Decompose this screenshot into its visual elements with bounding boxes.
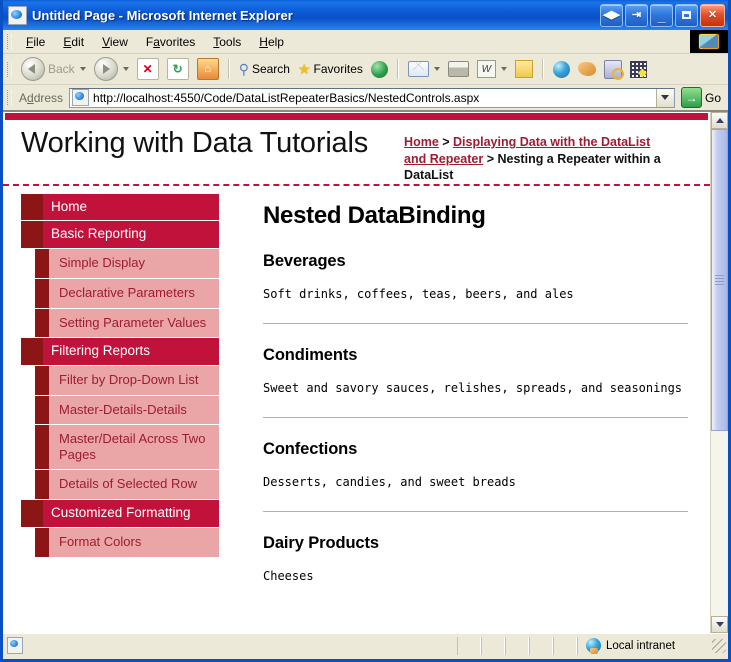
status-cell-5 [553, 637, 577, 655]
address-label: Address [17, 91, 69, 105]
sidebar-item-label: Filtering Reports [43, 338, 219, 365]
msn-butterfly-icon [578, 62, 596, 76]
page-title: Working with Data Tutorials [21, 126, 368, 161]
sidebar-item-basic-reporting[interactable]: Basic Reporting [21, 221, 219, 248]
research-button[interactable] [600, 58, 626, 81]
history-globe-icon [371, 61, 388, 78]
category-name: Beverages [263, 252, 688, 271]
toolbar-separator-2 [397, 59, 399, 79]
scroll-up-icon[interactable] [711, 112, 728, 129]
print-button[interactable] [444, 59, 473, 79]
standard-toolbar: Back ✕ ↻ ⌂ ⚲ Search ★ Favorites [3, 54, 728, 85]
sidebar-item-accent-bar [21, 500, 43, 527]
sidebar-item-label: Basic Reporting [43, 221, 219, 248]
go-arrow-icon: → [681, 87, 702, 108]
category-divider [263, 323, 688, 324]
resize-grip[interactable] [712, 639, 726, 653]
restore-group-glyph: ◀▶ [601, 5, 622, 26]
encarta-icon [630, 61, 647, 78]
go-label: Go [705, 91, 721, 105]
print-icon [448, 61, 469, 77]
category-description: Desserts, candies, and sweet breads [263, 475, 688, 489]
menu-tools[interactable]: Tools [204, 32, 250, 52]
sidebar-item-simple-display[interactable]: Simple Display [35, 249, 219, 279]
toolbar-separator [228, 59, 230, 79]
sidebar-item-accent-bar [35, 425, 49, 469]
page-body: HomeBasic ReportingSimple DisplayDeclara… [3, 186, 710, 605]
breadcrumb-sep-1: > [439, 135, 453, 149]
mail-dropdown-icon[interactable] [434, 67, 440, 71]
search-magnifier-icon: ⚲ [239, 61, 249, 78]
sidebar-nav: HomeBasic ReportingSimple DisplayDeclara… [21, 186, 219, 558]
edit-button[interactable]: W [473, 58, 511, 80]
edit-word-icon: W [477, 60, 496, 78]
page-top-accent-bar [5, 113, 708, 120]
maximize-glyph [676, 5, 697, 26]
stop-button[interactable]: ✕ [133, 56, 163, 82]
favorites-label: Favorites [314, 62, 363, 76]
ie-document-icon [8, 6, 27, 25]
sidebar-item-master-details-details[interactable]: Master-Details-Details [35, 396, 219, 426]
research-icon [604, 60, 622, 79]
favorites-star-icon: ★ [298, 61, 311, 78]
sidebar-item-label: Home [43, 194, 219, 221]
page-header: Working with Data Tutorials Home > Displ… [3, 120, 710, 186]
toolbar-grip[interactable] [7, 62, 12, 77]
messenger-button[interactable] [549, 59, 574, 80]
favorites-button[interactable]: ★ Favorites [294, 59, 367, 80]
title-bar: Untitled Page - Microsoft Internet Explo… [3, 0, 728, 30]
status-zone-label: Local intranet [606, 640, 675, 652]
address-url-text: http://localhost:4550/Code/DataListRepea… [93, 91, 656, 105]
sidebar-item-label: Setting Parameter Values [49, 309, 219, 338]
sidebar-item-filtering-reports[interactable]: Filtering Reports [21, 338, 219, 365]
category-description: Soft drinks, coffees, teas, beers, and a… [263, 287, 688, 301]
back-dropdown-icon[interactable] [80, 67, 86, 71]
scrollbar-track[interactable] [711, 129, 728, 616]
home-button[interactable]: ⌂ [193, 56, 223, 82]
minimize-glyph: _ [651, 5, 672, 26]
notes-icon [515, 60, 533, 78]
status-bar: Local intranet [3, 633, 728, 657]
flag-icon [699, 34, 719, 49]
back-label: Back [48, 62, 75, 76]
menu-grip[interactable] [7, 34, 12, 49]
forward-dropdown-icon[interactable] [123, 67, 129, 71]
category-name: Dairy Products [263, 534, 688, 553]
browser-viewport: Working with Data Tutorials Home > Displ… [3, 111, 728, 633]
back-button[interactable]: Back [17, 55, 90, 83]
breadcrumb-link-home[interactable]: Home [404, 135, 439, 149]
category-name: Condiments [263, 346, 688, 365]
sidebar-item-label: Format Colors [49, 528, 219, 557]
status-cell-1 [457, 637, 481, 655]
tab-group-glyph: ⇥ [626, 5, 647, 26]
category-divider [263, 417, 688, 418]
window-controls: ◀▶ ⇥ _ ✕ [600, 4, 725, 27]
menu-favorites[interactable]: Favorites [137, 32, 204, 52]
sidebar-item-label: Master/Detail Across Two Pages [49, 425, 219, 469]
sidebar-item-accent-bar [35, 396, 49, 425]
tab-group-button[interactable]: ⇥ [625, 4, 648, 27]
sidebar-item-declarative-parameters[interactable]: Declarative Parameters [35, 279, 219, 309]
go-button[interactable]: → Go [675, 87, 725, 108]
edit-dropdown-icon[interactable] [501, 67, 507, 71]
menu-help[interactable]: Help [250, 32, 293, 52]
breadcrumb: Home > Displaying Data with the DataList… [404, 126, 674, 184]
toolbar-separator-3 [542, 59, 544, 79]
address-bar: Address http://localhost:4550/Code/DataL… [3, 85, 728, 111]
sidebar-item-label: Details of Selected Row [49, 470, 219, 499]
sidebar-item-accent-bar [35, 249, 49, 278]
sidebar-item-accent-bar [21, 194, 43, 221]
refresh-button[interactable]: ↻ [163, 56, 193, 82]
menu-edit[interactable]: Edit [54, 32, 93, 52]
window-title: Untitled Page - Microsoft Internet Explo… [32, 8, 600, 23]
stop-icon: ✕ [137, 58, 159, 80]
maximize-button[interactable] [675, 4, 698, 27]
encarta-button[interactable] [626, 59, 651, 80]
search-button[interactable]: ⚲ Search [235, 59, 294, 80]
forward-button[interactable] [90, 55, 133, 83]
windows-flag-logo [690, 30, 728, 53]
main-content: Nested DataBinding BeveragesSoft drinks,… [219, 186, 710, 605]
status-zone[interactable]: Local intranet [577, 637, 712, 655]
sidebar-item-setting-parameter-values[interactable]: Setting Parameter Values [35, 309, 219, 339]
sidebar-item-details-of-selected-row[interactable]: Details of Selected Row [35, 470, 219, 500]
sidebar-item-label: Simple Display [49, 249, 219, 278]
address-grip[interactable] [7, 90, 12, 105]
sidebar-item-label: Filter by Drop-Down List [49, 366, 219, 395]
status-page-icon [7, 637, 23, 654]
vertical-scrollbar[interactable] [710, 112, 728, 633]
back-arrow-icon [21, 57, 45, 81]
forward-arrow-icon [94, 57, 118, 81]
menu-view[interactable]: View [93, 32, 137, 52]
category-name: Confections [263, 440, 688, 459]
sidebar-item-home[interactable]: Home [21, 194, 219, 221]
status-cell-2 [481, 637, 505, 655]
category-divider [263, 511, 688, 512]
messenger-globe-icon [553, 61, 570, 78]
status-message-area [3, 637, 457, 655]
close-button[interactable]: ✕ [700, 4, 725, 27]
category-description: Cheeses [263, 569, 688, 583]
sidebar-item-filter-by-drop-down-list[interactable]: Filter by Drop-Down List [35, 366, 219, 396]
sidebar-item-customized-formatting[interactable]: Customized Formatting [21, 500, 219, 527]
refresh-icon: ↻ [167, 58, 189, 80]
browser-window: Untitled Page - Microsoft Internet Explo… [0, 0, 731, 662]
sidebar-item-master-detail-across-two-pages[interactable]: Master/Detail Across Two Pages [35, 425, 219, 470]
scroll-down-icon[interactable] [711, 616, 728, 633]
close-glyph: ✕ [701, 5, 724, 26]
restore-group-button[interactable]: ◀▶ [600, 4, 623, 27]
mail-icon [408, 61, 429, 77]
sidebar-item-label: Master-Details-Details [49, 396, 219, 425]
msn-button[interactable] [574, 60, 600, 78]
sidebar-item-accent-bar [21, 221, 43, 248]
category-list: BeveragesSoft drinks, coffees, teas, bee… [263, 252, 688, 583]
search-label: Search [252, 62, 290, 76]
home-icon: ⌂ [197, 58, 219, 80]
status-cell-3 [505, 637, 529, 655]
sidebar-item-accent-bar [35, 366, 49, 395]
minimize-button[interactable]: _ [650, 4, 673, 27]
sidebar-item-accent-bar [35, 528, 49, 557]
sidebar-item-accent-bar [35, 470, 49, 499]
scrollbar-thumb[interactable] [711, 129, 728, 431]
page-icon [72, 89, 89, 106]
scrollbar-thumb-grip [715, 275, 724, 286]
intranet-globe-icon [586, 638, 601, 653]
sidebar-item-format-colors[interactable]: Format Colors [35, 528, 219, 558]
mail-button[interactable] [404, 59, 444, 79]
menu-file[interactable]: File [17, 32, 54, 52]
sidebar-item-accent-bar [35, 309, 49, 338]
content-heading: Nested DataBinding [263, 202, 688, 230]
status-cell-4 [529, 637, 553, 655]
sidebar-item-label: Customized Formatting [43, 500, 219, 527]
breadcrumb-sep-2: > [483, 152, 497, 166]
history-button[interactable] [367, 59, 392, 80]
sidebar-item-accent-bar [35, 279, 49, 308]
category-description: Sweet and savory sauces, relishes, sprea… [263, 381, 688, 395]
chevron-down-icon[interactable] [656, 89, 674, 107]
notes-button[interactable] [511, 58, 537, 80]
sidebar-item-accent-bar [21, 338, 43, 365]
address-input[interactable]: http://localhost:4550/Code/DataListRepea… [69, 88, 675, 108]
web-page: Working with Data Tutorials Home > Displ… [3, 112, 710, 633]
sidebar-item-label: Declarative Parameters [49, 279, 219, 308]
menu-bar: File Edit View Favorites Tools Help [3, 30, 728, 54]
